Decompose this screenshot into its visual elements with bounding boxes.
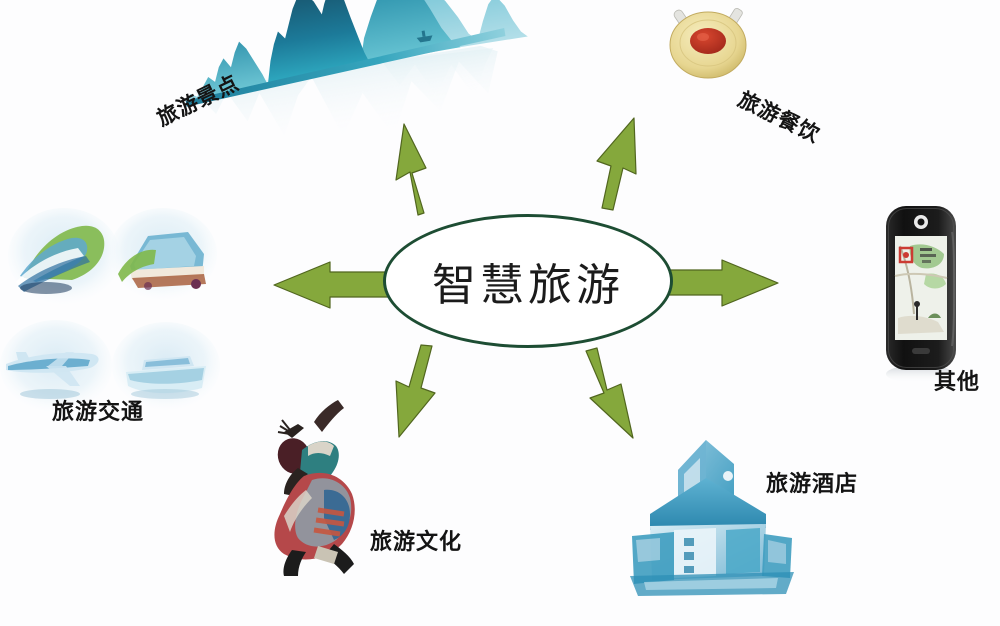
train-icon (8, 208, 120, 304)
node-label-transport[interactable]: 旅游交通 (52, 394, 144, 426)
bus-icon (109, 208, 217, 300)
center-node[interactable]: 智慧旅游 (383, 214, 673, 348)
arrow-up-right (597, 118, 636, 210)
arrow-left (274, 262, 388, 308)
arrow-up-left (396, 124, 426, 215)
plate-food-icon (670, 7, 746, 78)
hotel-building-icon (630, 440, 794, 596)
smart-tourism-diagram: 智慧旅游 旅游景点 旅游餐饮 旅游交通 旅游文化 旅游酒店 其他 (0, 0, 1000, 626)
node-label-culture[interactable]: 旅游文化 (370, 524, 462, 556)
dancer-icon (273, 400, 355, 576)
center-ellipse (383, 214, 673, 348)
node-label-hotel[interactable]: 旅游酒店 (766, 466, 858, 498)
arrow-down-right (586, 348, 633, 438)
mobile-phone-gps-icon (886, 206, 956, 383)
arrow-down-left (396, 345, 435, 437)
node-label-other[interactable]: 其他 (934, 364, 980, 396)
arrow-right (664, 260, 778, 306)
transport-icons (0, 208, 220, 412)
